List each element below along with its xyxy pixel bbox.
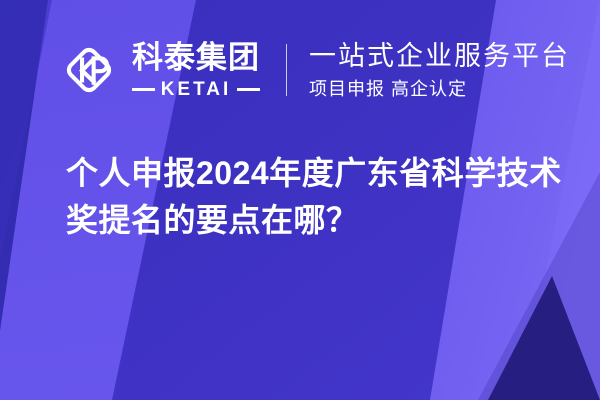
header-divider (286, 44, 287, 96)
tagline-sub: 项目申报 高企认定 (309, 79, 570, 101)
brand-rule-left (132, 88, 155, 91)
headline-line-2: 奖提名的要点在哪？ (66, 197, 576, 244)
tagline-main: 一站式企业服务平台 (309, 40, 570, 72)
banner-header: 科泰集团 KETAI 一站式企业服务平台 项目申报 高企认定 (0, 0, 600, 140)
brand-name-en: KETAI (161, 80, 232, 99)
headline-line-1: 个人申报2024年度广东省科学技术 (66, 150, 576, 197)
ketai-diamond-monogram-logo-icon (60, 41, 118, 99)
headline-block: 个人申报2024年度广东省科学技术 奖提名的要点在哪？ (66, 150, 576, 245)
brand-text-block: 科泰集团 KETAI (132, 41, 260, 98)
brand-name-cn: 科泰集团 (132, 41, 260, 74)
brand-name-en-row: KETAI (132, 80, 260, 99)
brand-lockup: 科泰集团 KETAI (60, 41, 260, 99)
tagline-block: 一站式企业服务平台 项目申报 高企认定 (309, 40, 570, 101)
promo-banner: 科泰集团 KETAI 一站式企业服务平台 项目申报 高企认定 个人申报2024年… (0, 0, 600, 400)
brand-rule-right (237, 88, 260, 91)
